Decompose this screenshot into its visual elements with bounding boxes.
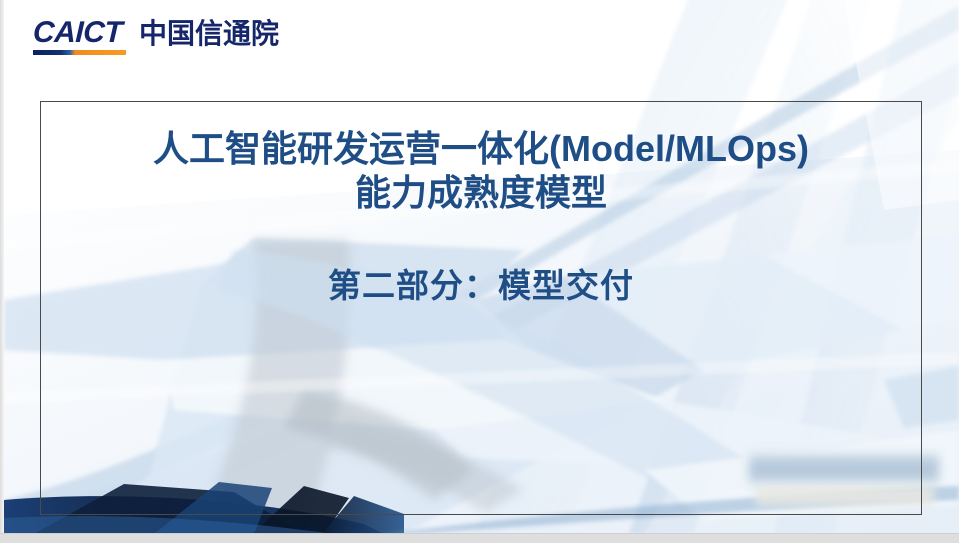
page-subtitle: 第二部分：模型交付: [40, 265, 922, 307]
logo-underline-bar: [33, 50, 126, 55]
slide-viewer: CAICT 中国信通院 人工智能研发运营一体化(Model/MLOps) 能力成…: [0, 0, 959, 543]
title-line-2: 能力成熟度模型: [40, 171, 922, 215]
title-line-1: 人工智能研发运营一体化(Model/MLOps): [40, 127, 922, 171]
subtitle-text: 第二部分：模型交付: [40, 265, 922, 307]
logo-acronym: CAICT: [32, 18, 126, 48]
window-edge-bottom: [0, 533, 959, 543]
logo-mark: CAICT: [33, 18, 126, 55]
page-title: 人工智能研发运营一体化(Model/MLOps) 能力成熟度模型: [40, 127, 922, 215]
window-edge-left: [0, 0, 4, 535]
caict-logo: CAICT 中国信通院: [33, 18, 279, 58]
logo-chinese-name: 中国信通院: [139, 18, 279, 50]
presentation-slide: CAICT 中国信通院 人工智能研发运营一体化(Model/MLOps) 能力成…: [4, 0, 959, 534]
